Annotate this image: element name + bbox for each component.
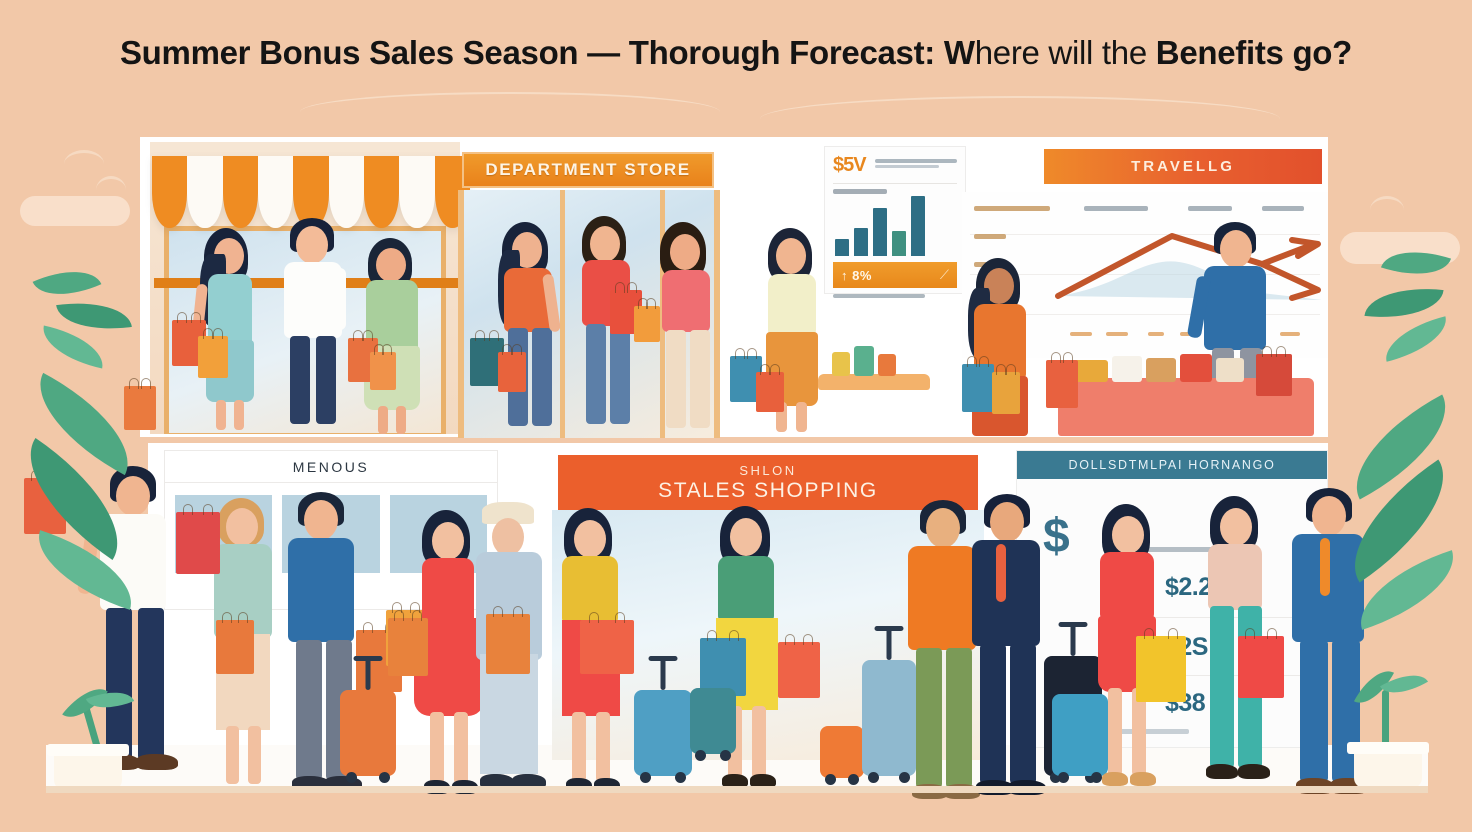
torso-dress (1100, 552, 1154, 620)
shopping-bag (778, 642, 820, 698)
leg (226, 726, 239, 784)
title-segment-3: Benefits go? (1156, 34, 1352, 71)
bird-decor-icon (96, 176, 126, 190)
bar-4 (911, 196, 925, 256)
leg (106, 608, 132, 760)
money-card-header: DOLLSDTMLPAI HORNANGO (1017, 451, 1327, 479)
foliage-leaf (33, 257, 102, 310)
awning-stripe (399, 156, 434, 228)
torso (662, 270, 710, 332)
head (376, 248, 406, 282)
shopping-bag (992, 372, 1020, 414)
leg (980, 644, 1006, 784)
foliage-leaf (56, 295, 132, 337)
arm (334, 268, 346, 330)
carryon-orange (820, 726, 864, 778)
infographic-canvas: Summer Bonus Sales Season — Thorough For… (0, 0, 1472, 832)
foliage-leaf (1379, 316, 1452, 362)
bar-1 (854, 228, 868, 256)
goods-item (854, 346, 874, 376)
stats-caption-glyph (833, 294, 925, 298)
leg (1010, 644, 1036, 784)
leg (138, 608, 164, 760)
shopping-bag (756, 372, 784, 412)
head (1220, 508, 1252, 546)
suitcase-wheel (675, 772, 686, 783)
leg (316, 336, 336, 424)
shopping-bag (388, 618, 428, 676)
shopping-bag (370, 352, 396, 390)
shopping-bag (1136, 636, 1186, 702)
torso-jacket (288, 538, 354, 642)
head (304, 500, 338, 540)
divider (833, 183, 957, 184)
shoe (1206, 764, 1238, 779)
suitcase-blue (634, 690, 692, 776)
suitcase-wheel (899, 772, 910, 783)
growth-badge-label: ↑ 8% (841, 268, 872, 283)
suitcase-wheel (695, 750, 706, 761)
stats-header-glyphs (875, 154, 957, 168)
goods-item (1074, 360, 1108, 382)
bar-0 (835, 239, 849, 256)
bird-decor-icon (1370, 196, 1404, 210)
suitcase-handle (887, 626, 892, 660)
leg (234, 400, 244, 430)
bar-3 (892, 231, 906, 256)
leg (378, 406, 388, 434)
baseline-area (1058, 261, 1322, 300)
awning-stripe (364, 156, 399, 228)
suitcase-wheel (379, 772, 390, 783)
goods-item (1180, 354, 1212, 382)
leg-jeans (532, 328, 552, 426)
necktie (996, 544, 1006, 602)
suitcase-teal (690, 688, 736, 754)
suitcase-lightblue (862, 660, 916, 776)
head (116, 476, 150, 516)
stats-header-row: $5V (833, 154, 957, 177)
menous-label: MENOUS (293, 459, 369, 475)
leg (216, 400, 226, 430)
department-store-sign: DEPARTMENT STORE (462, 152, 714, 188)
trend-arrow-icon: ⟋ (940, 267, 949, 283)
foliage-leaf (1364, 282, 1443, 324)
money-card-title: DOLLSDTMLPAI HORNANGO (1068, 458, 1275, 472)
head (926, 508, 960, 548)
leg (752, 706, 766, 778)
glyph-line (875, 159, 957, 163)
page-title: Summer Bonus Sales Season — Thorough For… (0, 34, 1472, 72)
growth-badge: ↑ 8% ⟋ (833, 262, 957, 288)
goods-item (1216, 358, 1244, 382)
traveling-label: TRAVELLG (1131, 158, 1235, 175)
head (574, 520, 606, 558)
shoe (136, 754, 178, 770)
leg (796, 402, 807, 432)
department-store-label: DEPARTMENT STORE (485, 160, 690, 180)
torso-suit (972, 540, 1040, 646)
heel-shoe (1130, 772, 1156, 786)
shopping-bag (124, 386, 156, 430)
awning-stripe (187, 156, 222, 228)
title-segment-1: Summer Bonus Sales Season — Thorough For… (120, 34, 975, 71)
shoe (1238, 764, 1270, 779)
head (776, 238, 806, 274)
heel-shoe (1102, 772, 1128, 786)
goods-item (832, 352, 850, 376)
planter-rim (1347, 742, 1429, 754)
awning-stripe (152, 156, 187, 228)
torso-suit (1204, 266, 1266, 350)
suitcase-wheel (825, 774, 836, 785)
swoosh-decor-icon (300, 92, 720, 132)
glyph-line (875, 165, 939, 168)
suitcase-handle (366, 656, 371, 690)
goods-item (1112, 356, 1142, 382)
leg (596, 712, 610, 782)
shopping-bag (1238, 636, 1284, 698)
shopping-bag (176, 512, 220, 574)
suitcase-handle (1071, 622, 1076, 656)
shopping-bag (1046, 360, 1078, 408)
shopping-bag (198, 336, 228, 378)
torso-top (1208, 544, 1262, 610)
swoosh-decor-icon (760, 96, 1280, 142)
awning-stripe (223, 156, 258, 228)
title-segment-2: here will the (975, 34, 1156, 71)
menous-header: MENOUS (165, 451, 497, 483)
leg (396, 406, 406, 434)
stats-headline-value: $5V (833, 154, 866, 177)
shopping-bag (962, 364, 994, 412)
shopping-bag (1256, 354, 1292, 396)
suitcase-orange (340, 690, 396, 776)
leg (572, 712, 586, 782)
leg-jeans (586, 324, 606, 424)
traveler-man-navy-suit (962, 494, 1052, 806)
suitcase-handle (661, 656, 666, 690)
leg-pants (1210, 606, 1234, 768)
floor-line (46, 786, 1428, 793)
head (1112, 516, 1144, 554)
suitcase-wheel (868, 772, 879, 783)
bird-decor-icon (64, 150, 104, 164)
head (1312, 496, 1346, 536)
torso (768, 274, 816, 336)
leg-trousers (666, 330, 686, 428)
leg (1108, 688, 1122, 776)
bar-2 (873, 208, 887, 256)
shopping-bag (486, 614, 530, 674)
goods-item (878, 354, 896, 376)
suitcase-wheel (720, 750, 731, 761)
torso-top (718, 556, 774, 622)
handbag (580, 620, 634, 674)
plant-stem (1382, 690, 1389, 748)
necktie (1320, 538, 1330, 596)
salon-line-2: STALES SHOPPING (658, 479, 878, 503)
display-table (818, 374, 930, 390)
head (226, 508, 258, 546)
planter-pot-left (54, 744, 122, 790)
leg-jeans (610, 324, 630, 424)
head (730, 518, 762, 556)
leg (916, 648, 942, 788)
goods-item (1146, 358, 1176, 382)
planter-pot-right (1354, 742, 1422, 788)
head (432, 522, 464, 560)
cloud-decor-icon (20, 196, 130, 226)
head (296, 226, 328, 264)
leg-trousers (690, 330, 710, 428)
traveling-banner: TRAVELLG (1044, 149, 1322, 184)
shopping-bag (216, 620, 254, 674)
head (990, 502, 1024, 542)
leg (430, 712, 444, 784)
head (1220, 230, 1252, 268)
shopping-bag (498, 352, 526, 392)
salon-line-1: SHLON (739, 463, 796, 478)
suitcase-wheel (1058, 772, 1069, 783)
planter-rim (47, 744, 129, 756)
suitcase-wheel (640, 772, 651, 783)
suitcase-wheel (848, 774, 859, 785)
bar-chart (833, 194, 957, 256)
foliage-leaf (38, 325, 109, 368)
head (590, 226, 620, 262)
shopper-man-white-shirt (276, 218, 354, 434)
leg (296, 640, 322, 780)
leg (290, 336, 310, 424)
leg (1300, 640, 1328, 782)
leg (248, 726, 261, 784)
shopper-woman-pink-top (652, 222, 726, 434)
head (492, 518, 524, 556)
stats-card: $5V ↑ 8% ⟋ (824, 146, 966, 294)
suitcase-wheel (346, 772, 357, 783)
foliage-leaf (1334, 395, 1467, 500)
shopper-woman-orange-top (494, 222, 568, 434)
head (670, 234, 700, 270)
